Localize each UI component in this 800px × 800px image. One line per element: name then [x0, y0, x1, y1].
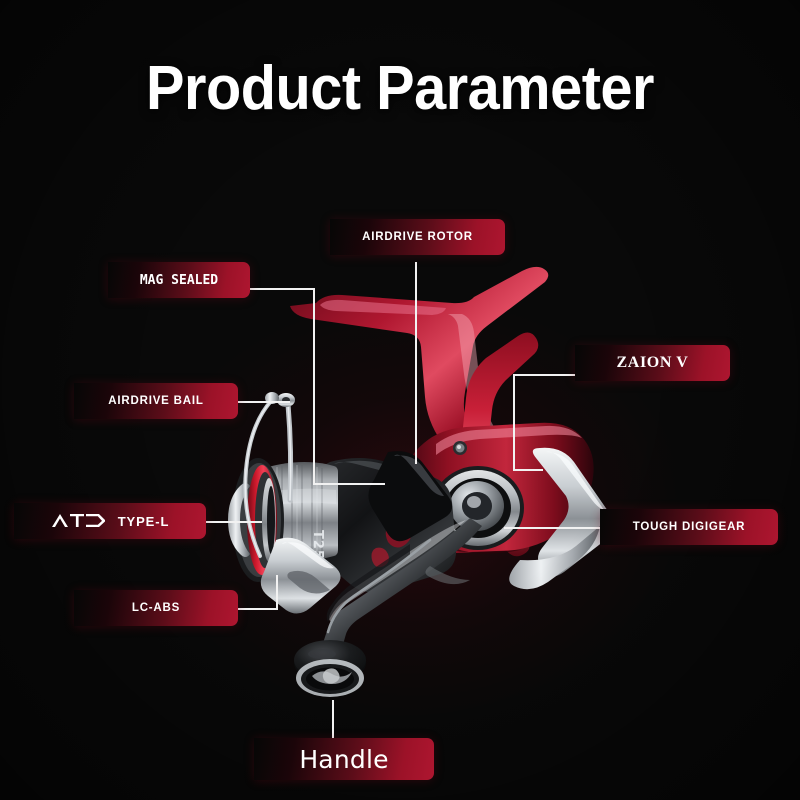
leader-line-mag-sealed-3: [313, 483, 385, 485]
callout-badge-airdrive-bail[interactable]: AIRDRIVE BAIL: [74, 383, 238, 419]
leader-line-tough-digigear: [504, 527, 600, 529]
callout-badge-zaion-v[interactable]: ZAION V: [575, 345, 730, 381]
callout-label-mag-sealed: MAG SEALED: [140, 272, 218, 288]
callout-label-airdrive-bail: AIRDRIVE BAIL: [108, 395, 203, 407]
callout-label-airdrive-rotor: AIRDRIVE ROTOR: [362, 231, 473, 243]
callout-label-tough-digigear: TOUGH DIGIGEAR: [633, 521, 746, 533]
callout-label-atd-type-l: TYPE-L: [118, 514, 170, 529]
callout-badge-lc-abs[interactable]: LC-ABS: [74, 590, 238, 626]
callout-badge-handle[interactable]: Handle: [254, 738, 434, 780]
leader-line-zaion-v-1: [513, 374, 575, 376]
leader-line-lc-abs-1: [238, 608, 278, 610]
leader-line-airdrive-rotor: [415, 262, 417, 464]
leader-line-zaion-v-2: [513, 374, 515, 470]
callout-badge-airdrive-rotor[interactable]: AIRDRIVE ROTOR: [330, 219, 505, 255]
callout-label-lc-abs: LC-ABS: [132, 602, 180, 614]
callout-badge-tough-digigear[interactable]: TOUGH DIGIGEAR: [600, 509, 778, 545]
leader-line-mag-sealed-2: [313, 288, 315, 484]
leader-line-atd-type-l: [206, 521, 262, 523]
product-parameter-infographic: T2500S: [0, 0, 800, 800]
page-title: Product Parameter: [28, 58, 772, 120]
leader-line-handle: [332, 700, 334, 738]
callout-badge-mag-sealed[interactable]: MAG SEALED: [108, 262, 250, 298]
atd-lockup: TYPE-L: [51, 512, 170, 530]
callout-badge-atd-type-l[interactable]: TYPE-L: [14, 503, 206, 539]
callout-label-zaion-v: ZAION V: [617, 354, 689, 372]
atd-logo-icon: [51, 512, 109, 530]
leader-line-zaion-v-3: [513, 469, 543, 471]
leader-line-mag-sealed-1: [250, 288, 315, 290]
leader-line-lc-abs-2: [276, 575, 278, 609]
leader-line-airdrive-bail: [238, 401, 290, 403]
callout-label-handle: Handle: [299, 745, 388, 774]
